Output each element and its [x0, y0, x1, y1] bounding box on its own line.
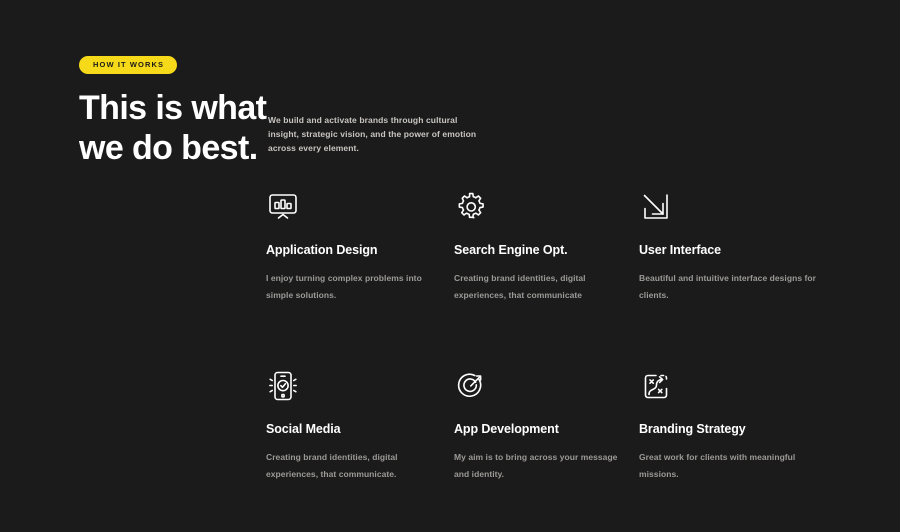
mobile-check-icon	[266, 369, 300, 403]
how-it-works-badge: HOW IT WORKS	[79, 56, 177, 74]
services-section: HOW IT WORKS This is what we do best. We…	[0, 0, 900, 532]
service-description: Great work for clients with meaningful m…	[639, 449, 834, 484]
service-card-search-engine-opt[interactable]: Search Engine Opt. Creating brand identi…	[454, 190, 639, 305]
service-title: App Development	[454, 422, 639, 437]
service-description: Creating brand identities, digital exper…	[266, 449, 441, 484]
service-description: I enjoy turning complex problems into si…	[266, 270, 441, 305]
service-title: Search Engine Opt.	[454, 243, 639, 258]
presentation-chart-icon	[266, 190, 300, 224]
service-description: Beautiful and intuitive interface design…	[639, 270, 834, 305]
service-title: Application Design	[266, 243, 454, 258]
service-title: Social Media	[266, 422, 454, 437]
target-arrow-icon	[454, 369, 488, 403]
service-card-app-development[interactable]: App Development My aim is to bring acros…	[454, 369, 639, 484]
strategy-path-icon	[639, 369, 673, 403]
service-description: Creating brand identities, digital exper…	[454, 270, 629, 305]
service-description: My aim is to bring across your message a…	[454, 449, 629, 484]
service-title: User Interface	[639, 243, 854, 258]
service-card-branding-strategy[interactable]: Branding Strategy Great work for clients…	[639, 369, 854, 484]
intro-paragraph: We build and activate brands through cul…	[268, 113, 480, 155]
service-card-user-interface[interactable]: User Interface Beautiful and intuitive i…	[639, 190, 854, 305]
gear-icon	[454, 190, 488, 224]
arrow-down-right-corner-icon	[639, 190, 673, 224]
services-grid: Application Design I enjoy turning compl…	[266, 190, 866, 484]
service-title: Branding Strategy	[639, 422, 854, 437]
service-card-social-media[interactable]: Social Media Creating brand identities, …	[266, 369, 454, 484]
service-card-application-design[interactable]: Application Design I enjoy turning compl…	[266, 190, 454, 305]
